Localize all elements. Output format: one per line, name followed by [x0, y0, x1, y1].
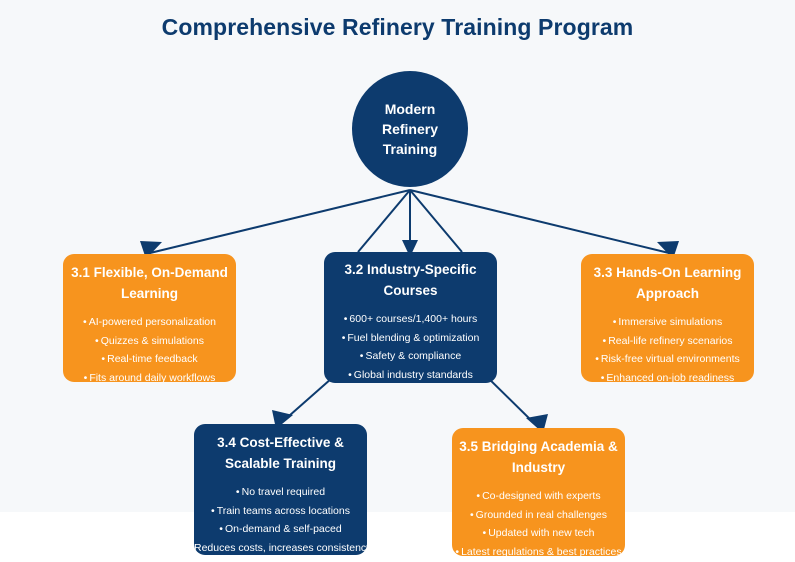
node-title: 3.2 Industry-Specific Courses: [327, 260, 495, 302]
list-item-label: Grounded in real challenges: [476, 509, 607, 521]
bullet-icon: •: [219, 523, 223, 535]
node-bullet-list: •AI-powered personalization •Quizzes & s…: [63, 313, 236, 382]
bullet-icon: •: [84, 372, 88, 382]
node-bullet-list: •Co-designed with experts •Grounded in r…: [452, 487, 625, 556]
node-title: 3.1 Flexible, On-Demand Learning: [66, 263, 234, 305]
list-item: •Safety & compliance: [324, 347, 497, 366]
list-item-label: Fuel blending & optimization: [347, 332, 479, 344]
bullet-icon: •: [595, 353, 599, 365]
list-item: •Real-time feedback: [63, 350, 236, 369]
node-title: 3.4 Cost-Effective & Scalable Training: [197, 433, 365, 475]
list-item-label: Reduces costs, increases consistency: [194, 542, 367, 554]
bullet-icon: •: [83, 316, 87, 328]
list-item-label: Fits around daily workflows: [89, 372, 215, 382]
bullet-icon: •: [101, 353, 105, 365]
list-item-label: AI-powered personalization: [89, 316, 216, 328]
node-3-1-flexible-on-demand-learning[interactable]: 3.1 Flexible, On-Demand Learning •AI-pow…: [63, 254, 236, 382]
list-item-label: Latest regulations & best practices: [461, 546, 622, 556]
list-item-label: 600+ courses/1,400+ hours: [349, 313, 477, 325]
list-item: •Real-life refinery scenarios: [581, 332, 754, 351]
list-item-label: Real-time feedback: [107, 353, 197, 365]
list-item: •Global industry standards: [324, 366, 497, 383]
hub-line-2: Refinery: [382, 119, 438, 139]
list-item: •Immersive simulations: [581, 313, 754, 332]
list-item: •Co-designed with experts: [452, 487, 625, 506]
bullet-icon: •: [344, 313, 348, 325]
bullet-icon: •: [470, 509, 474, 521]
list-item-label: Immersive simulations: [618, 316, 722, 328]
bullet-icon: •: [603, 335, 607, 347]
list-item: •Risk-free virtual environments: [581, 350, 754, 369]
list-item-label: Enhanced on-job readiness: [606, 372, 734, 382]
list-item-label: Updated with new tech: [488, 527, 594, 539]
list-item: •600+ courses/1,400+ hours: [324, 310, 497, 329]
list-item: •Quizzes & simulations: [63, 332, 236, 351]
list-item: •Grounded in real challenges: [452, 506, 625, 525]
list-item: •No travel required: [194, 483, 367, 502]
list-item-label: Risk-free virtual environments: [601, 353, 740, 365]
diagram-stage: Comprehensive Refinery Training Program …: [0, 0, 795, 562]
bullet-icon: •: [613, 316, 617, 328]
node-3-5-bridging-academia-industry[interactable]: 3.5 Bridging Academia & Industry •Co-des…: [452, 428, 625, 556]
bullet-icon: •: [483, 527, 487, 539]
bullet-icon: •: [342, 332, 346, 344]
list-item-label: Safety & compliance: [365, 350, 461, 362]
node-title: 3.3 Hands-On Learning Approach: [584, 263, 752, 305]
bullet-icon: •: [601, 372, 605, 382]
list-item-label: On-demand & self-paced: [225, 523, 342, 535]
node-bullet-list: •600+ courses/1,400+ hours •Fuel blendin…: [324, 310, 497, 383]
list-item: •Enhanced on-job readiness: [581, 369, 754, 382]
bullet-icon: •: [348, 369, 352, 381]
bullet-icon: •: [455, 546, 459, 556]
bullet-icon: •: [236, 486, 240, 498]
hub-node-modern-refinery-training[interactable]: Modern Refinery Training: [352, 71, 468, 187]
bullet-icon: •: [211, 505, 215, 517]
list-item: •AI-powered personalization: [63, 313, 236, 332]
list-item: •Updated with new tech: [452, 524, 625, 543]
list-item: •Fuel blending & optimization: [324, 329, 497, 348]
list-item-label: No travel required: [242, 486, 325, 498]
list-item-label: Real-life refinery scenarios: [608, 335, 732, 347]
list-item: •Train teams across locations: [194, 502, 367, 521]
bullet-icon: •: [360, 350, 364, 362]
node-bullet-list: •No travel required •Train teams across …: [194, 483, 367, 555]
list-item-label: Co-designed with experts: [482, 490, 600, 502]
list-item: •Fits around daily workflows: [63, 369, 236, 382]
node-bullet-list: •Immersive simulations •Real-life refine…: [581, 313, 754, 382]
list-item: Reduces costs, increases consistency: [194, 539, 367, 555]
list-item: •On-demand & self-paced: [194, 520, 367, 539]
node-3-4-cost-effective-scalable-training[interactable]: 3.4 Cost-Effective & Scalable Training •…: [194, 424, 367, 555]
list-item: •Latest regulations & best practices: [452, 543, 625, 556]
node-3-3-hands-on-learning-approach[interactable]: 3.3 Hands-On Learning Approach •Immersiv…: [581, 254, 754, 382]
list-item-label: Global industry standards: [354, 369, 473, 381]
list-item-label: Train teams across locations: [217, 505, 350, 517]
hub-line-3: Training: [383, 139, 437, 159]
list-item-label: Quizzes & simulations: [101, 335, 204, 347]
node-3-2-industry-specific-courses[interactable]: 3.2 Industry-Specific Courses •600+ cour…: [324, 252, 497, 383]
node-title: 3.5 Bridging Academia & Industry: [455, 437, 623, 479]
hub-line-1: Modern: [385, 99, 436, 119]
bullet-icon: •: [476, 490, 480, 502]
page-title: Comprehensive Refinery Training Program: [0, 14, 795, 41]
bullet-icon: •: [95, 335, 99, 347]
